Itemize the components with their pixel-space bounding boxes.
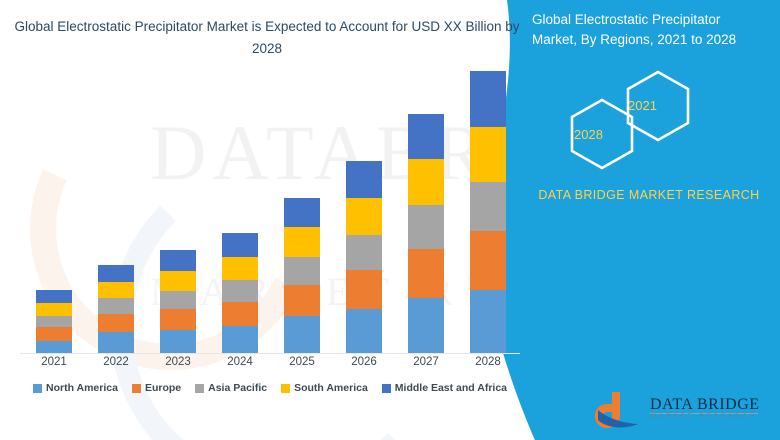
- legend-label: North America: [46, 382, 118, 394]
- segment-asia-pacific-2027: [408, 205, 444, 249]
- legend-label: Europe: [145, 382, 181, 394]
- segment-europe-2021: [36, 327, 72, 340]
- x-tick-2023: 2023: [150, 356, 206, 368]
- x-tick-2026: 2026: [336, 356, 392, 368]
- x-tick-2027: 2027: [398, 356, 454, 368]
- segment-south-america-2027: [408, 159, 444, 205]
- legend-swatch-icon: [132, 384, 141, 393]
- logo-mark-icon: [594, 390, 646, 432]
- segment-north-america-2028: [470, 290, 506, 353]
- segment-europe-2024: [222, 302, 258, 326]
- chart-legend: North AmericaEuropeAsia PacificSouth Ame…: [0, 378, 540, 398]
- bar-2026: [346, 161, 382, 353]
- segment-middle-east-and-africa-2022: [98, 265, 134, 282]
- segment-europe-2028: [470, 231, 506, 290]
- segment-north-america-2023: [160, 330, 196, 353]
- legend-item-asia-pacific[interactable]: Asia Pacific: [195, 382, 267, 394]
- legend-item-north-america[interactable]: North America: [33, 382, 118, 394]
- segment-middle-east-and-africa-2021: [36, 290, 72, 303]
- bar-2022: [98, 265, 134, 353]
- legend-swatch-icon: [281, 384, 290, 393]
- segment-north-america-2026: [346, 309, 382, 353]
- legend-swatch-icon: [33, 384, 42, 393]
- segment-south-america-2022: [98, 282, 134, 298]
- segment-asia-pacific-2023: [160, 291, 196, 309]
- segment-south-america-2028: [470, 127, 506, 182]
- segment-europe-2027: [408, 249, 444, 298]
- segment-middle-east-and-africa-2027: [408, 114, 444, 159]
- x-tick-2024: 2024: [212, 356, 268, 368]
- segment-middle-east-and-africa-2025: [284, 198, 320, 227]
- infographic-root: DATABRIDGE MARKET RESEARCH Global Electr…: [0, 0, 780, 440]
- segment-asia-pacific-2022: [98, 298, 134, 314]
- axis-baseline: [20, 353, 520, 354]
- legend-label: Middle East and Africa: [395, 382, 507, 394]
- segment-north-america-2024: [222, 326, 258, 353]
- legend-label: South America: [294, 382, 368, 394]
- legend-swatch-icon: [195, 384, 204, 393]
- bar-2027: [408, 114, 444, 353]
- segment-north-america-2021: [36, 341, 72, 353]
- legend-label: Asia Pacific: [208, 382, 267, 394]
- segment-asia-pacific-2026: [346, 235, 382, 270]
- segment-middle-east-and-africa-2028: [470, 71, 506, 127]
- segment-europe-2026: [346, 270, 382, 309]
- segment-south-america-2026: [346, 198, 382, 235]
- bar-2021: [36, 290, 72, 353]
- segment-south-america-2021: [36, 303, 72, 316]
- x-tick-2025: 2025: [274, 356, 330, 368]
- page-title: Global Electrostatic Precipitator Market…: [14, 16, 520, 60]
- legend-item-europe[interactable]: Europe: [132, 382, 181, 394]
- legend-item-south-america[interactable]: South America: [281, 382, 368, 394]
- segment-asia-pacific-2021: [36, 316, 72, 327]
- x-tick-2021: 2021: [26, 356, 82, 368]
- segment-asia-pacific-2028: [470, 182, 506, 231]
- legend-swatch-icon: [382, 384, 391, 393]
- segment-south-america-2023: [160, 271, 196, 291]
- segment-asia-pacific-2024: [222, 280, 258, 302]
- x-tick-2028: 2028: [460, 356, 516, 368]
- x-tick-2022: 2022: [88, 356, 144, 368]
- segment-north-america-2027: [408, 298, 444, 353]
- bar-2023: [160, 250, 196, 353]
- legend-item-middle-east-and-africa[interactable]: Middle East and Africa: [382, 382, 507, 394]
- data-bridge-logo: DATA BRIDGE MARKET RESEARCH: [594, 390, 770, 434]
- segment-europe-2023: [160, 309, 196, 330]
- segment-north-america-2022: [98, 332, 134, 353]
- segment-north-america-2025: [284, 316, 320, 353]
- segment-europe-2022: [98, 314, 134, 332]
- segment-middle-east-and-africa-2026: [346, 161, 382, 198]
- logo-wordmark: DATA BRIDGE: [650, 396, 760, 414]
- segment-middle-east-and-africa-2023: [160, 250, 196, 271]
- bar-2024: [222, 233, 258, 353]
- segment-europe-2025: [284, 285, 320, 317]
- segment-asia-pacific-2025: [284, 257, 320, 285]
- segment-south-america-2024: [222, 257, 258, 280]
- segment-south-america-2025: [284, 227, 320, 256]
- bar-2028: [470, 71, 506, 353]
- x-axis: 20212022202320242025202620272028: [0, 353, 540, 375]
- logo-tagline: MARKET RESEARCH: [651, 414, 757, 420]
- bar-2025: [284, 198, 320, 353]
- stacked-bar-chart: [0, 60, 540, 353]
- segment-middle-east-and-africa-2024: [222, 233, 258, 256]
